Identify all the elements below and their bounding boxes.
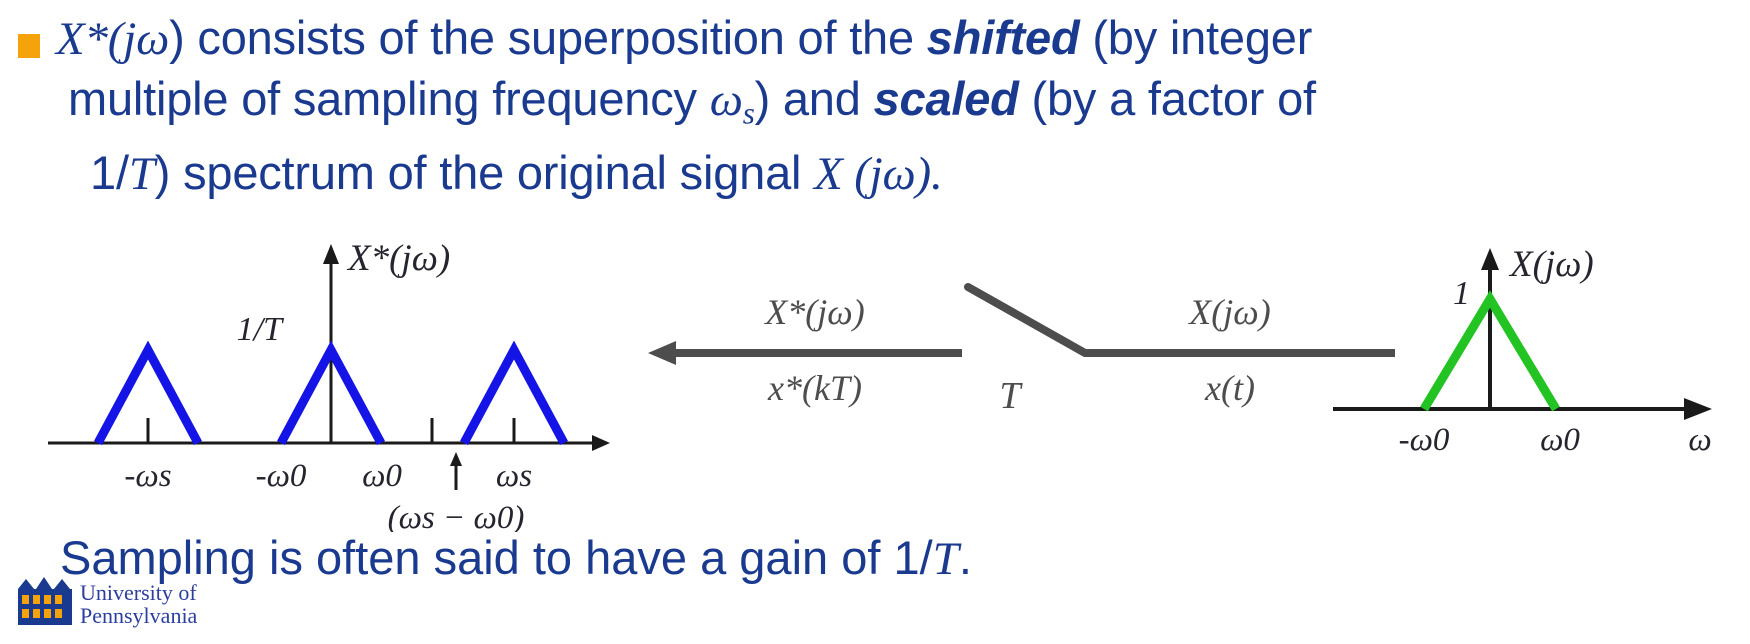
left-chart-x-axis-arrowhead [592,435,610,451]
chart-sampled-spectrum: X*(jω) 1/T -ωs -ω0 ω0 ωs (ωs − ω0) [48,238,610,532]
flow-left-label-below: x*(kT) [767,368,862,408]
right-chart-peak-label: 1 [1453,275,1470,312]
left-chart-y-axis-arrowhead [323,244,339,264]
right-chart-y-axis-arrowhead [1481,248,1499,270]
right-chart-xtick-0: -ω0 [1399,422,1450,458]
body-line1-text-b: ) consists of the superposition of the [169,11,927,64]
left-chart-peak-label: 1/T [237,311,284,348]
sampler-period-label: T [999,375,1023,417]
spectrum-figure: X*(jω) 1/T -ωs -ω0 ω0 ωs (ωs − ω0) X*(jω… [0,232,1750,532]
body-line1-bold: shifted [927,11,1080,64]
left-chart-title: X*(jω) [346,238,450,279]
right-chart-x-axis-arrowhead [1684,398,1712,420]
body-line2-sub: s [743,96,755,131]
body-line1-math-a: X*(j [56,13,136,65]
body-line3-text-a: 1/ [90,146,129,199]
left-chart-xtick-0: -ωs [124,458,171,494]
body-line3-X: X [814,148,843,200]
bullet-paragraph: X*(jω) consists of the superposition of … [14,8,1744,204]
body-line2-bold: scaled [874,72,1019,125]
body-line3-text-d: ). [916,148,943,200]
university-logo-line2: Pennsylvania [80,604,197,627]
body-line2-text-a: multiple of sampling frequency [68,72,710,125]
university-logo-text: University of Pennsylvania [80,581,197,627]
body-line1-omega: ω [136,13,169,65]
flow-left-arrow-head [648,341,676,365]
university-logo: University of Pennsylvania [16,575,316,641]
left-chart-xtick-3: ωs [496,458,532,494]
university-shield-icon [16,575,74,627]
body-line3-omega: ω [883,148,916,200]
sampler-switch-blade [968,287,1085,353]
left-chart-xtick-2: ω0 [362,458,402,494]
flow-right-label-above: X(jω) [1187,292,1270,332]
body-line2-omega: ω [710,74,743,126]
signal-flow-diagram: X*(jω) x*(kT) T X(jω) x(t) [648,287,1395,417]
left-chart-xtick-1: -ω0 [256,458,307,494]
body-line3-text-b: ) spectrum of the original signal [155,146,814,199]
body-line2-text-b: ) and [755,72,874,125]
closing-text-b: . [959,531,972,584]
slide-root: X*(jω) consists of the superposition of … [0,0,1750,644]
body-line2-text-c: (by a factor of [1019,72,1316,125]
right-chart-xlabel: ω [1688,422,1711,458]
body-line3-text-c: (j [843,148,883,200]
left-chart-annotation: (ωs − ω0) [388,500,525,532]
flow-right-label-below: x(t) [1204,368,1255,408]
university-logo-line1: University of [80,581,197,604]
right-chart-xtick-1: ω0 [1540,422,1580,458]
right-chart-title: X(jω) [1508,244,1594,285]
closing-text-T: T [933,533,959,585]
flow-left-label-above: X*(jω) [763,292,864,332]
body-text: X*(jω) consists of the superposition of … [14,8,1744,204]
figure-svg: X*(jω) 1/T -ωs -ω0 ω0 ωs (ωs − ω0) X*(jω… [0,232,1750,532]
bullet-square-icon [18,34,40,58]
left-chart-callout-arrowhead [450,452,462,466]
body-line3-T: T [129,148,155,200]
body-line1-text-c: (by integer [1079,11,1312,64]
